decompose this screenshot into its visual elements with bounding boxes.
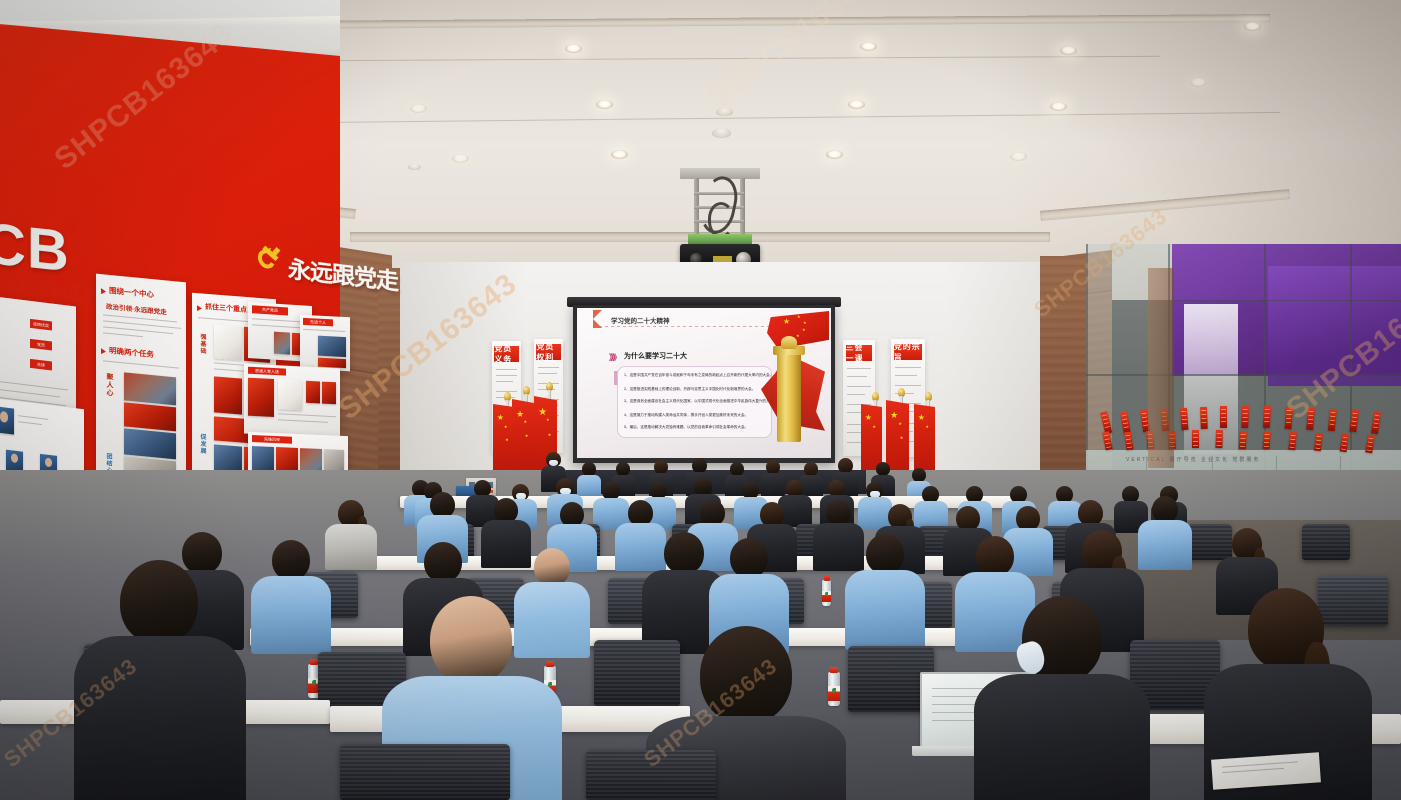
decorative-ribbon (1102, 431, 1113, 450)
chair (1302, 524, 1350, 560)
board-tag: 先进个人 (303, 318, 333, 327)
chair-foreground (340, 744, 510, 800)
slide-bullet: 3、这是谋划全面建设社会主义现代化国家、以中国式现代化全面推进中华民族伟大复兴的… (624, 399, 777, 403)
panel-title: 抓住三个重点 (205, 302, 247, 315)
chinese-flag: ★ ★ (914, 404, 935, 478)
downlight (1010, 152, 1027, 161)
downlight (1060, 46, 1077, 55)
glass-transom (1086, 374, 1401, 376)
chinese-flag: ★ ★ ★ (493, 404, 514, 478)
hammer-sickle-icon (258, 247, 284, 274)
smoke-detector-icon (712, 128, 731, 138)
downlight (565, 44, 582, 53)
party-emblem-sign: 永远跟党走 (258, 247, 284, 274)
downlight (452, 154, 469, 163)
panel-heading: 党员义务 (494, 346, 518, 362)
wood-column-behind-glass (1148, 268, 1174, 468)
projector-cable (708, 202, 734, 238)
board-photo (252, 446, 274, 473)
slide-title: 学习党的二十大精神 (611, 315, 670, 325)
decorative-ribbon (1200, 407, 1208, 429)
panel-subtitle: 政治引领·永远跟党走 (106, 301, 167, 317)
chinese-flag: ★ ★ ★ (512, 399, 534, 479)
huabiao-column-graphic (777, 350, 801, 442)
board-photo (306, 381, 320, 404)
decorative-ribbon (1215, 430, 1223, 448)
decorative-ribbon (1284, 407, 1293, 429)
downlight (860, 42, 877, 51)
board-photo (322, 382, 336, 405)
wood-pillar-right (1040, 256, 1086, 506)
decorative-ribbon (1180, 408, 1189, 430)
smoke-detector-icon (408, 164, 421, 170)
wall-board-small-2: 先进个人 (300, 315, 350, 372)
wall-board-small-3: 普通人党入选 (244, 363, 340, 438)
board-photo (214, 324, 242, 360)
board-photo (278, 379, 302, 410)
chair-foreground (586, 750, 716, 800)
projection-screen: 学习党的二十大精神 》》》 为什么要学习二十大 1、这是中国共产党在百年奋斗成就… (577, 308, 831, 458)
decorative-ribbon (1288, 432, 1297, 451)
slide-bullet: 2、这是推进实践基础上的理论创新，开辟马克思主义中国化时代化新境界的大会。 (624, 387, 755, 391)
board-tag: 共产党员 (252, 305, 288, 315)
decorative-ribbon (1349, 410, 1359, 433)
purple-display-area (1268, 266, 1401, 386)
board-photo (318, 336, 346, 357)
water-bottle (828, 672, 840, 706)
panel-vertical-label-secondary: 促发展 (198, 433, 207, 455)
glass-etched-text: VERTICAL 展厅导览 企业文化 党群服务 (1126, 456, 1260, 463)
board-tag: 党员 (30, 339, 52, 351)
wood-pillar-left (378, 268, 400, 498)
board-tag: 先锋 (30, 359, 52, 371)
chair (594, 640, 680, 706)
portrait-photo (0, 406, 14, 434)
decorative-ribbon (1306, 408, 1315, 431)
decorative-ribbon (1192, 430, 1199, 448)
decorative-ribbon (1328, 409, 1337, 432)
chair (1186, 524, 1232, 560)
panel-title: 明确两个任务 (109, 345, 154, 360)
decorative-ribbon (1239, 431, 1247, 449)
slide-bullet: 4、这是凝力于推动构建人类命运共同体，携手开创人类更加美好未来的大会。 (624, 413, 748, 417)
decorative-ribbon (1262, 431, 1271, 450)
decorative-ribbon (1314, 433, 1323, 452)
panel-heading: 党的宗旨 (894, 344, 923, 360)
downlight (826, 150, 843, 159)
smoke-detector-icon (716, 108, 733, 116)
decorative-ribbon (1220, 406, 1227, 428)
downlight (1190, 78, 1207, 87)
panel-heading: 党员权利 (536, 344, 560, 360)
panel-vertical-label: 聚人心 (104, 372, 114, 397)
board-photo (274, 332, 290, 355)
slide-subtitle: 为什么要学习二十大 (624, 351, 687, 361)
chinese-flag-graphic: ★ ★ ★ ★ ★ (767, 311, 829, 349)
board-photo (124, 402, 176, 431)
decorative-ribbon (1241, 406, 1249, 428)
board-tag: 普通人党入选 (248, 367, 286, 376)
slide-bullet-box: 1、这是中国共产党在百年奋斗成就和千年未有之变局的新起点上召开新的代更大率内的大… (617, 366, 772, 438)
conference-room-photo: CB 永远跟党走 党建1234工作法 成绩优良 党员 先锋 围绕一个中心 政治引… (0, 0, 1401, 800)
board-photo (318, 358, 346, 368)
downlight (1244, 22, 1261, 31)
board-photo (214, 376, 242, 414)
chair (1318, 576, 1388, 626)
downlight (410, 104, 427, 113)
downlight (1050, 102, 1067, 111)
slide-bullet: 5、最后，这是推动解决大党独有难题、以党的自我革命引领社会革命的大会。 (624, 425, 748, 429)
panel-vertical-label: 强基础 (198, 333, 207, 355)
downlight (611, 150, 628, 159)
decorative-ribbon (1263, 406, 1271, 428)
huabiao-top (781, 336, 797, 349)
board-photo (214, 444, 242, 472)
board-tag: 成绩优良 (30, 319, 52, 331)
downlight (848, 100, 865, 109)
slide-section-marker: 》》》 (609, 352, 619, 363)
panel-title: 围绕一个中心 (109, 285, 154, 300)
decorative-ribbon (1124, 432, 1133, 451)
board-tag: 先锋风采 (252, 435, 292, 444)
glass-transom (1172, 300, 1401, 301)
board-photo (124, 372, 176, 405)
board-photo (124, 428, 176, 459)
downlight (596, 100, 613, 109)
panel-heading: 三会一课 (846, 345, 873, 361)
decorative-ribbon (1371, 412, 1381, 435)
board-photo (248, 378, 274, 417)
slide-bullet: 1、这是中国共产党在百年奋斗成就和千年未有之变局的新起点上召开新的代更大率内的大… (624, 373, 773, 377)
water-bottle (822, 580, 831, 606)
